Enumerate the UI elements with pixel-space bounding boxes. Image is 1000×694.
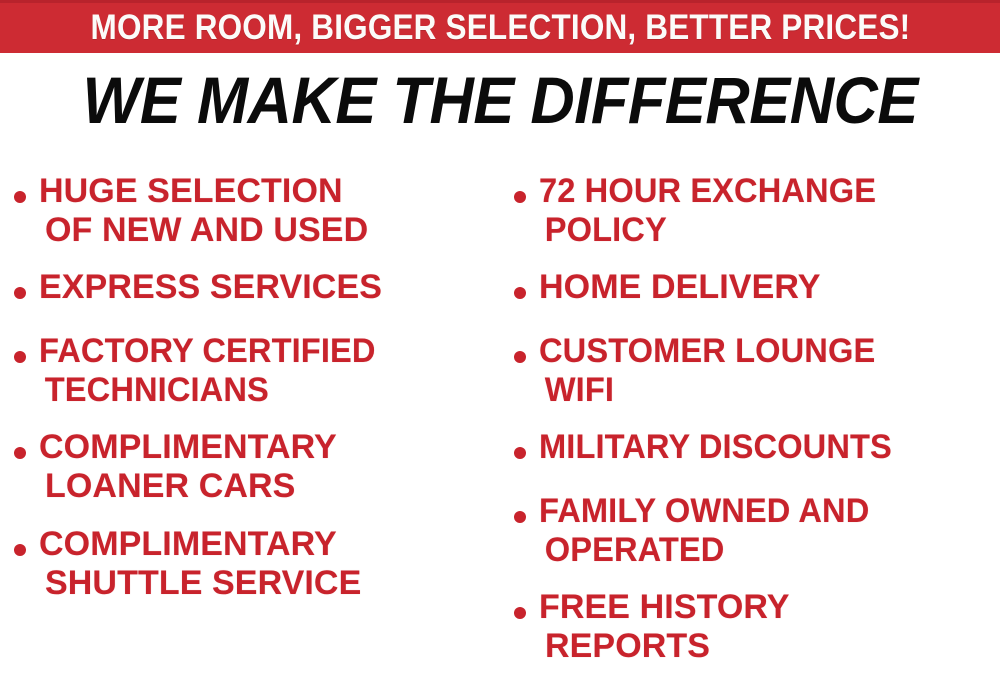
list-item-line-1: 72 HOUR EXCHANGE (539, 172, 876, 210)
page-title: WE MAKE THE DIFFERENCE (0, 67, 1000, 133)
list-item: FREE HISTORYREPORTS (514, 588, 790, 666)
bullet-dot-icon (514, 511, 526, 523)
list-item-line-2: WIFI (539, 371, 875, 410)
list-item: 72 HOUR EXCHANGEPOLICY (514, 172, 890, 250)
list-item-line-1: HUGE SELECTION (39, 172, 343, 210)
benefits-column-left: HUGE SELECTIONOF NEW AND USED EXPRESS SE… (14, 150, 500, 694)
list-item-line-2: POLICY (539, 211, 876, 250)
list-item-line-1: CUSTOMER LOUNGE (539, 332, 875, 370)
list-item-line-1: MILITARY DISCOUNTS (539, 428, 892, 466)
list-item: EXPRESS SERVICES (14, 268, 382, 307)
list-item: COMPLIMENTARYLOANER CARS (14, 428, 337, 506)
list-item: FAMILY OWNED ANDOPERATED (514, 492, 883, 570)
list-item: HOME DELIVERY (514, 268, 821, 307)
promo-banner-text: MORE ROOM, BIGGER SELECTION, BETTER PRIC… (90, 10, 910, 47)
list-item-line-2: OPERATED (539, 531, 869, 570)
bullet-dot-icon (14, 544, 26, 556)
list-item-line-2: SHUTTLE SERVICE (39, 564, 361, 603)
list-item-line-1: FACTORY CERTIFIED (39, 332, 376, 370)
list-item-line-2: REPORTS (539, 627, 790, 666)
list-item-line-1: EXPRESS SERVICES (39, 268, 382, 306)
list-item: FACTORY CERTIFIEDTECHNICIANS (14, 332, 390, 410)
bullet-dot-icon (14, 287, 26, 299)
list-item-label: HUGE SELECTIONOF NEW AND USED (39, 172, 368, 250)
bullet-dot-icon (14, 191, 26, 203)
list-item-label: COMPLIMENTARYLOANER CARS (39, 428, 337, 506)
list-item-label: 72 HOUR EXCHANGEPOLICY (539, 172, 876, 250)
list-item-line-1: FAMILY OWNED AND (539, 492, 869, 530)
list-item-label: FAMILY OWNED ANDOPERATED (539, 492, 869, 570)
bullet-dot-icon (514, 607, 526, 619)
list-item-label: CUSTOMER LOUNGEWIFI (539, 332, 875, 410)
list-item-line-1: FREE HISTORY (539, 588, 790, 626)
list-item: COMPLIMENTARYSHUTTLE SERVICE (14, 525, 361, 603)
bullet-dot-icon (514, 191, 526, 203)
list-item-line-1: COMPLIMENTARY (39, 525, 337, 563)
bullet-dot-icon (14, 351, 26, 363)
list-item-label: HOME DELIVERY (539, 268, 821, 307)
benefits-column-right: 72 HOUR EXCHANGEPOLICY HOME DELIVERY CUS… (514, 150, 1000, 694)
page-title-text: WE MAKE THE DIFFERENCE (82, 67, 917, 133)
bullet-dot-icon (514, 287, 526, 299)
list-item-label: MILITARY DISCOUNTS (539, 428, 892, 467)
list-item-label: FACTORY CERTIFIEDTECHNICIANS (39, 332, 376, 410)
list-item-label: COMPLIMENTARYSHUTTLE SERVICE (39, 525, 361, 603)
bullet-dot-icon (514, 351, 526, 363)
promo-banner: MORE ROOM, BIGGER SELECTION, BETTER PRIC… (0, 0, 1000, 53)
list-item-line-2: LOANER CARS (39, 467, 337, 506)
list-item: CUSTOMER LOUNGEWIFI (514, 332, 889, 410)
list-item-label: FREE HISTORYREPORTS (539, 588, 790, 666)
list-item: MILITARY DISCOUNTS (514, 428, 907, 467)
list-item-line-2: TECHNICIANS (39, 371, 376, 410)
list-item-line-1: HOME DELIVERY (539, 268, 821, 306)
list-item-line-2: OF NEW AND USED (39, 211, 368, 250)
list-item-label: EXPRESS SERVICES (39, 268, 382, 307)
list-item: HUGE SELECTIONOF NEW AND USED (14, 172, 368, 250)
bullet-dot-icon (514, 447, 526, 459)
bullet-dot-icon (14, 447, 26, 459)
list-item-line-1: COMPLIMENTARY (39, 428, 337, 466)
